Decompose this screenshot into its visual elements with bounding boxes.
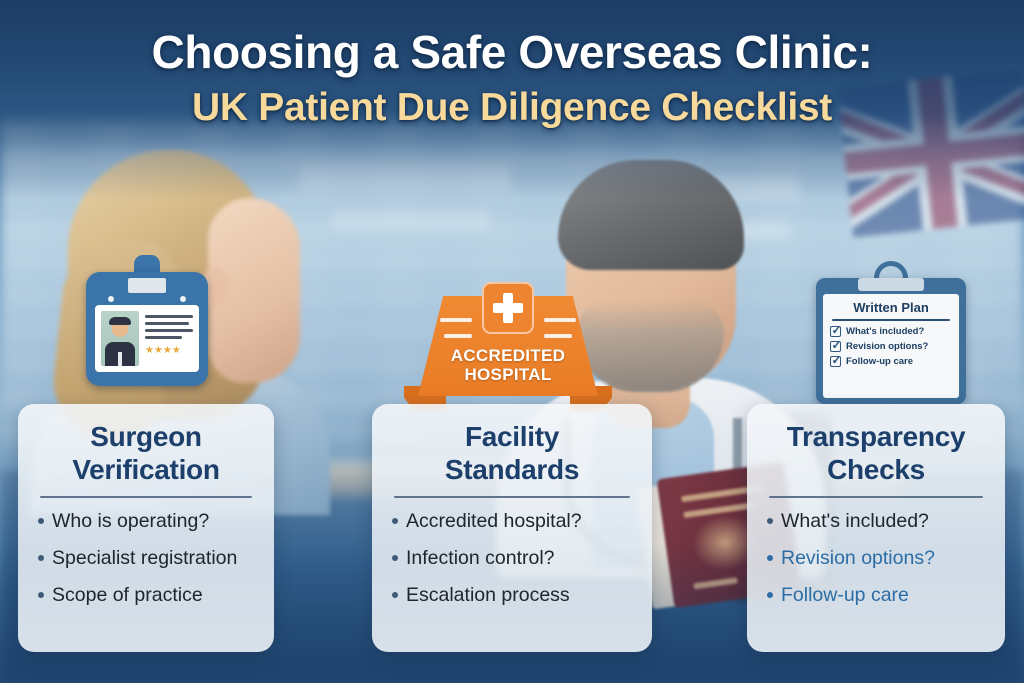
card-title-line1: Transparency	[761, 420, 991, 453]
checkbox-checked-icon[interactable]	[830, 356, 841, 367]
card-bullet-item: What's included?	[767, 509, 989, 533]
bullet-dot-icon	[767, 518, 773, 524]
bullet-dot-icon	[38, 518, 44, 524]
card-title-line2: Verification	[32, 453, 260, 486]
card-title-line1: Surgeon	[32, 420, 260, 453]
card-bullet-item: Revision options?	[767, 546, 989, 570]
checkbox-checked-icon[interactable]	[830, 341, 841, 352]
bullet-text: Accredited hospital?	[406, 509, 582, 533]
card-title-line1: Facility	[386, 420, 638, 453]
written-plan-item[interactable]: Revision options?	[830, 341, 952, 352]
id-badge-card: ★★★★	[95, 305, 199, 372]
card-bullet-item: Specialist registration	[38, 546, 258, 570]
written-plan-item[interactable]: What's included?	[830, 326, 952, 337]
bullet-text: Specialist registration	[52, 546, 237, 570]
card-bullet-item: Infection control?	[392, 546, 636, 570]
card-bullet-list: What's included?Revision options?Follow-…	[761, 509, 991, 607]
card-divider	[40, 496, 252, 498]
card-bullet-item: Escalation process	[392, 583, 636, 607]
card-divider	[769, 496, 983, 498]
infographic-canvas: Choosing a Safe Overseas Clinic: UK Pati…	[0, 0, 1024, 683]
bullet-dot-icon	[38, 592, 44, 598]
bullet-text: Escalation process	[406, 583, 570, 607]
bullet-text: Who is operating?	[52, 509, 209, 533]
badge-dash-left-2	[444, 334, 472, 338]
portrait-tie	[118, 352, 122, 366]
title-block: Choosing a Safe Overseas Clinic: UK Pati…	[0, 24, 1024, 134]
bullet-dot-icon	[767, 555, 773, 561]
card-bullet-item: Scope of practice	[38, 583, 258, 607]
doctor-beard	[576, 300, 724, 392]
written-plan-title: Written Plan	[830, 300, 952, 316]
checklist-card-surgeon-verification[interactable]: Surgeon Verification Who is operating?Sp…	[18, 404, 274, 652]
badge-dash-right-2	[544, 334, 572, 338]
page-title: Choosing a Safe Overseas Clinic:	[0, 24, 1024, 80]
id-badge-details: ★★★★	[145, 311, 193, 366]
card-bullet-item: Follow-up care	[767, 583, 989, 607]
written-plan-divider	[832, 319, 950, 321]
card-divider	[394, 496, 630, 498]
id-detail-line-3	[145, 329, 193, 332]
card-bullet-item: Who is operating?	[38, 509, 258, 533]
bullet-dot-icon	[38, 555, 44, 561]
bullet-dot-icon	[392, 518, 398, 524]
page-subtitle: UK Patient Due Diligence Checklist	[0, 82, 1024, 134]
bullet-text: What's included?	[781, 509, 929, 533]
checkbox-checked-icon[interactable]	[830, 326, 841, 337]
star-rating: ★★★★	[145, 346, 193, 356]
accredited-hospital-badge: ACCREDITED HOSPITAL	[418, 296, 598, 406]
bullet-text: Revision options?	[781, 546, 935, 570]
clipboard-paper: Written Plan What's included?Revision op…	[823, 294, 959, 398]
card-title-line2: Standards	[386, 453, 638, 486]
badge-label-line2: HOSPITAL	[418, 365, 598, 384]
bullet-dot-icon	[392, 592, 398, 598]
bullet-text: Infection control?	[406, 546, 555, 570]
badge-dash-right-1	[544, 318, 576, 322]
bullet-text: Scope of practice	[52, 583, 203, 607]
bullet-dot-icon	[767, 592, 773, 598]
bullet-text: Follow-up care	[781, 583, 909, 607]
written-plan-item-label: Follow-up care	[846, 356, 913, 367]
card-title-line2: Checks	[761, 453, 991, 486]
checklist-card-transparency-checks[interactable]: Transparency Checks What's included?Revi…	[747, 404, 1005, 652]
id-detail-line-2	[145, 322, 189, 325]
id-badge-rivet-right	[180, 296, 186, 302]
id-badge-portrait	[101, 311, 139, 366]
written-plan-item[interactable]: Follow-up care	[830, 356, 952, 367]
id-detail-line-1	[145, 315, 193, 318]
shelf-blur-2	[330, 210, 490, 230]
badge-dash-left-1	[440, 318, 472, 322]
id-detail-line-4	[145, 336, 182, 339]
clipboard-icon: Written Plan What's included?Revision op…	[816, 278, 966, 404]
written-plan-item-label: Revision options?	[846, 341, 928, 352]
card-bullet-list: Who is operating?Specialist registration…	[32, 509, 260, 607]
cross-glyph	[493, 293, 523, 323]
portrait-cap	[109, 317, 131, 325]
medical-cross-icon	[482, 282, 534, 334]
bullet-dot-icon	[392, 555, 398, 561]
id-card-icon: ★★★★	[86, 272, 208, 386]
card-bullet-list: Accredited hospital?Infection control?Es…	[386, 509, 638, 607]
id-badge-rivet-left	[108, 296, 114, 302]
card-title: Facility Standards	[386, 420, 638, 486]
card-title: Surgeon Verification	[32, 420, 260, 486]
card-title: Transparency Checks	[761, 420, 991, 486]
card-bullet-item: Accredited hospital?	[392, 509, 636, 533]
written-plan-checklist: What's included?Revision options?Follow-…	[830, 326, 952, 367]
written-plan-item-label: What's included?	[846, 326, 924, 337]
clipboard-clamp	[858, 278, 924, 291]
checklist-card-facility-standards[interactable]: Facility Standards Accredited hospital?I…	[372, 404, 652, 652]
badge-label-line1: ACCREDITED	[418, 346, 598, 365]
id-badge-slot	[128, 278, 166, 293]
